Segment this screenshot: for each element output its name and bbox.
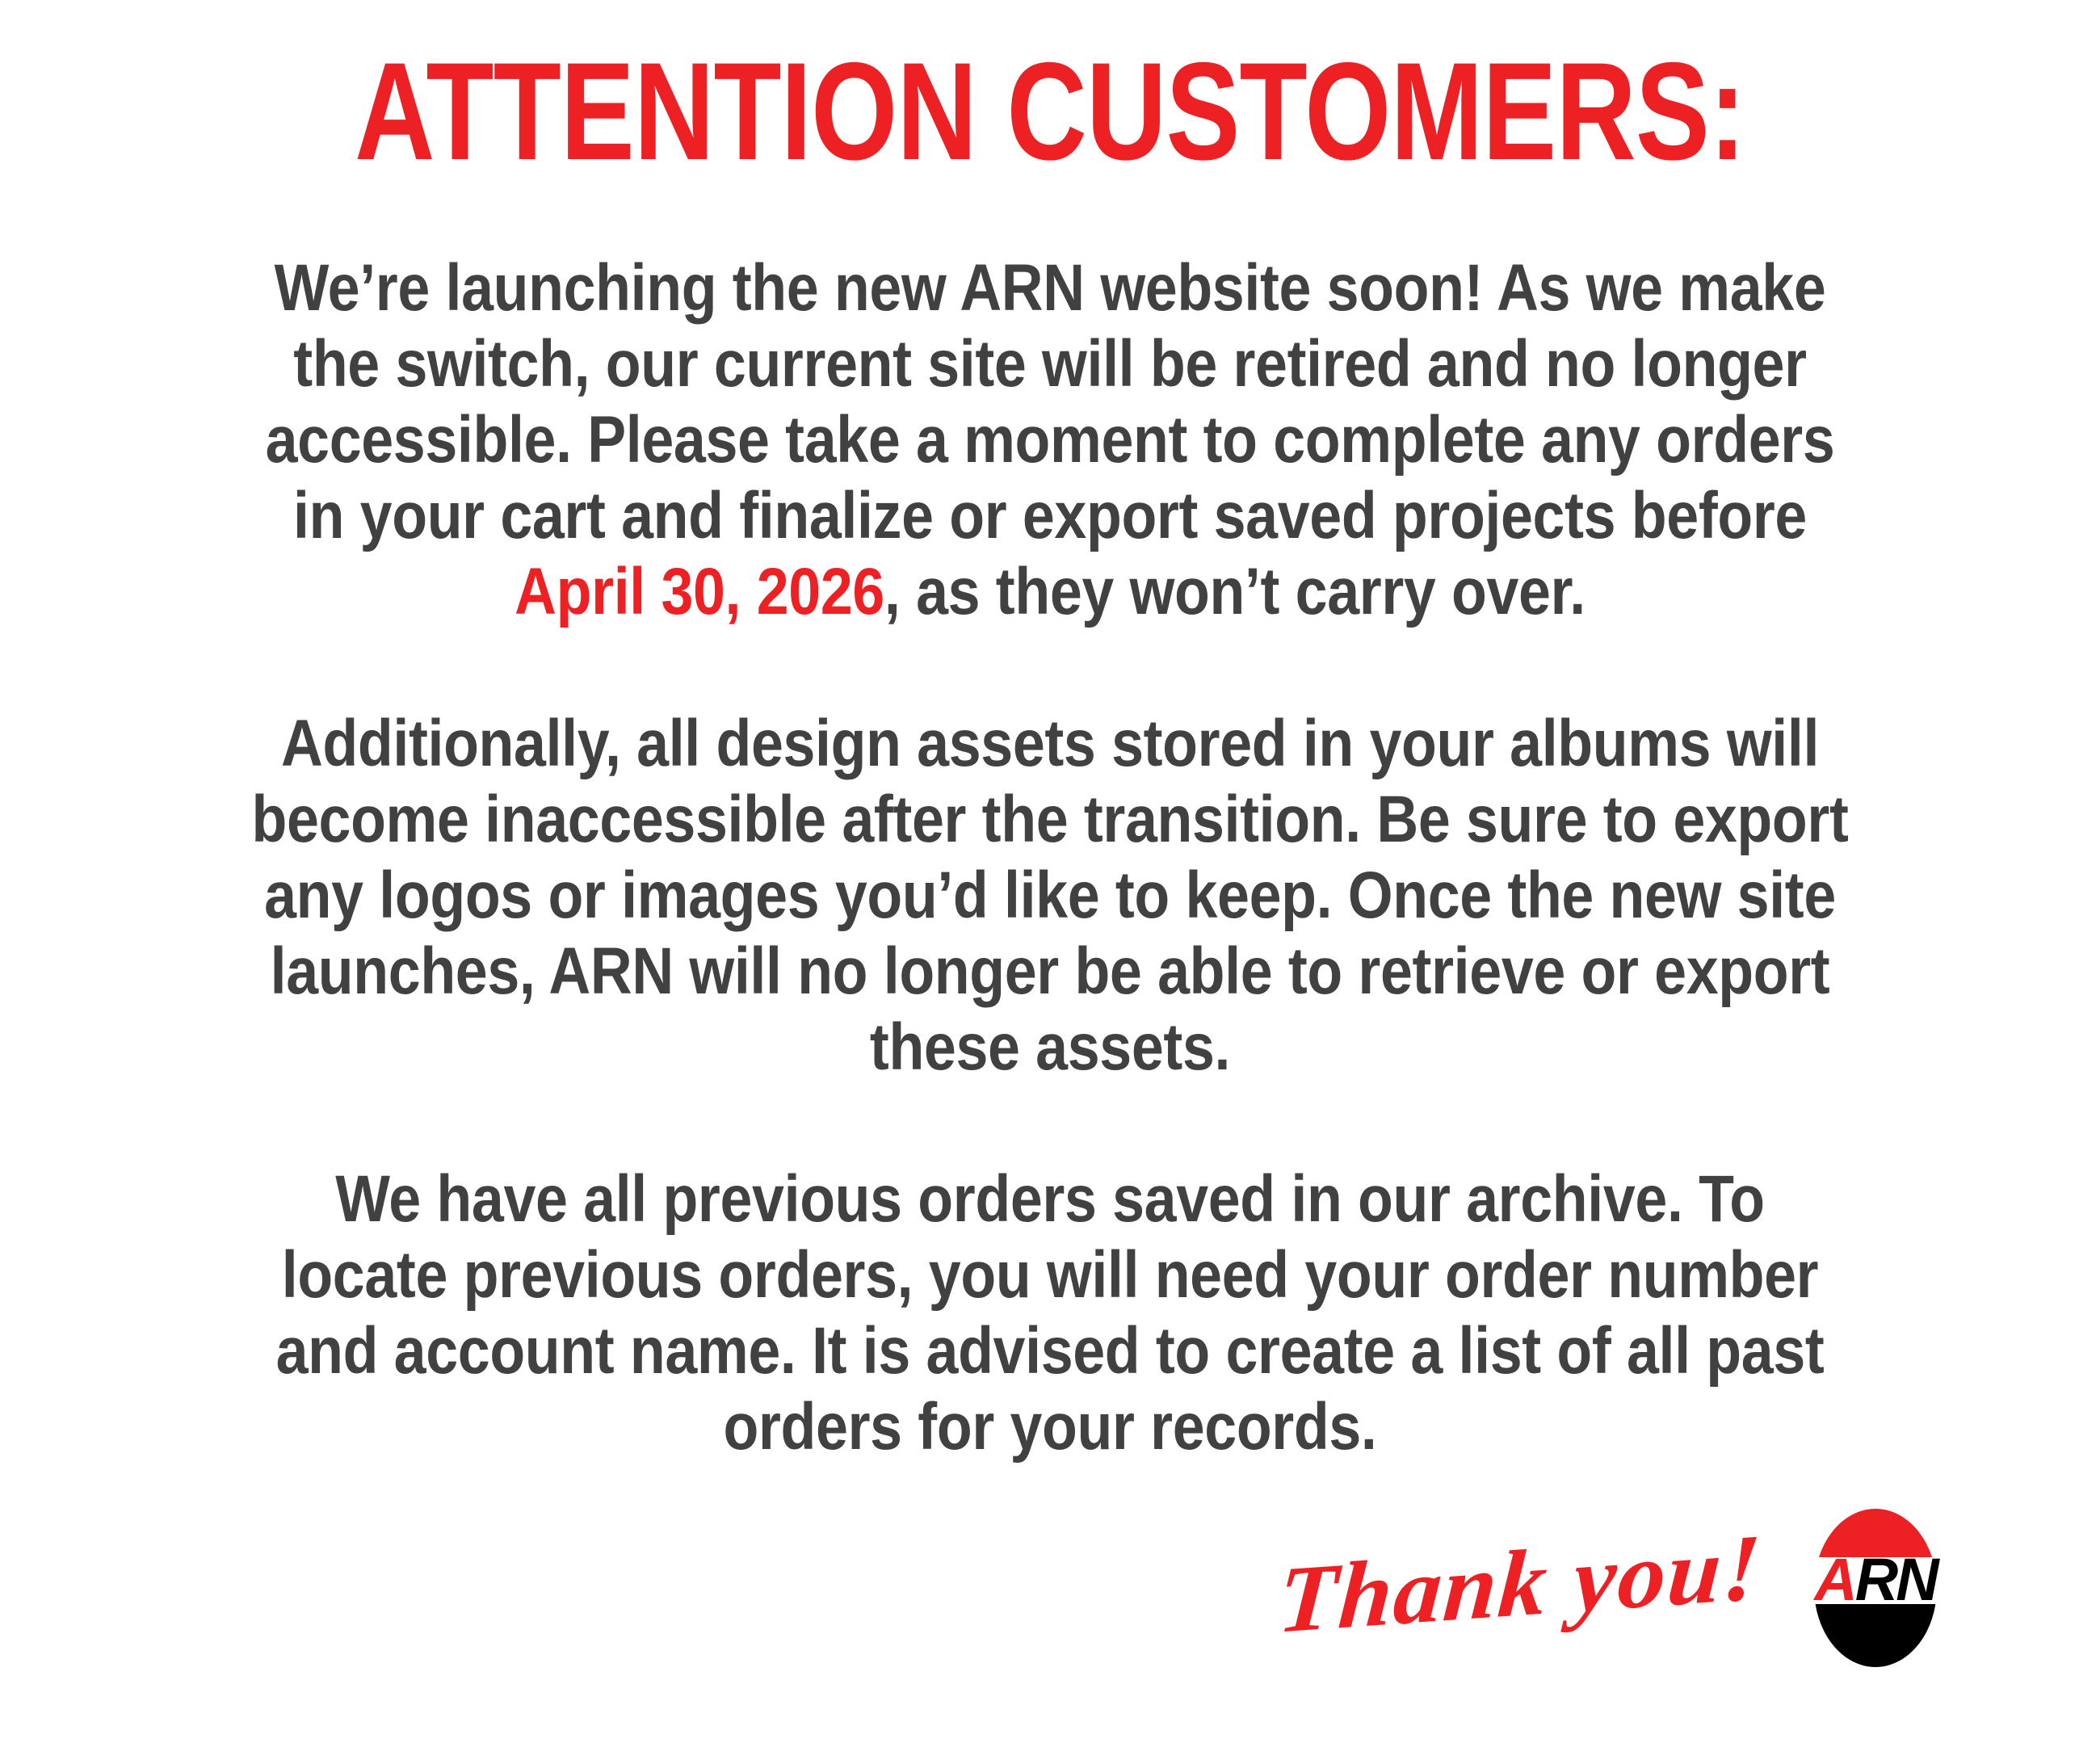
svg-text:ARN: ARN — [1812, 1546, 1940, 1613]
body-line: Additionally, all design assets stored i… — [230, 706, 1870, 782]
body-line-with-deadline: April 30, 2026, as they won’t carry over… — [230, 554, 1870, 630]
body-line: become inaccessible after the transition… — [230, 782, 1870, 858]
body-line: any logos or images you’d like to keep. … — [230, 858, 1870, 934]
arn-logo-letter-a: A — [1812, 1546, 1854, 1613]
body-line: in your cart and finalize or export save… — [230, 478, 1870, 554]
page-title: ATTENTION CUSTOMERS: — [210, 42, 1890, 181]
body-line: accessible. Please take a moment to comp… — [230, 402, 1870, 478]
thank-you-signature: Thank you! — [1275, 1519, 1765, 1656]
arn-logo-letters-rn: RN — [1855, 1546, 1940, 1613]
deadline-trailing-text: , as they won’t carry over. — [884, 555, 1585, 628]
notice-body: We’re launching the new ARN website soon… — [113, 250, 1987, 1465]
paragraph-site-retirement: We’re launching the new ARN website soon… — [230, 250, 1870, 630]
body-line: and account name. It is advised to creat… — [230, 1313, 1870, 1389]
body-line: orders for your records. — [230, 1389, 1870, 1465]
body-line: We’re launching the new ARN website soon… — [230, 250, 1870, 326]
signature-block: Thank you! ARN — [1279, 1507, 1947, 1669]
attention-customers-notice: ATTENTION CUSTOMERS: We’re launching the… — [0, 0, 2100, 1743]
deadline-date: April 30, 2026 — [514, 555, 884, 628]
body-line: We have all previous orders saved in our… — [230, 1161, 1870, 1237]
paragraph-order-archive: We have all previous orders saved in our… — [230, 1161, 1870, 1465]
paragraph-design-assets: Additionally, all design assets stored i… — [230, 706, 1870, 1086]
body-line: these assets. — [230, 1010, 1870, 1086]
body-line: launches, ARN will no longer be able to … — [230, 934, 1870, 1010]
body-line: locate previous orders, you will need yo… — [230, 1237, 1870, 1313]
arn-logo: ARN — [1804, 1507, 1947, 1669]
body-line: the switch, our current site will be ret… — [230, 326, 1870, 402]
